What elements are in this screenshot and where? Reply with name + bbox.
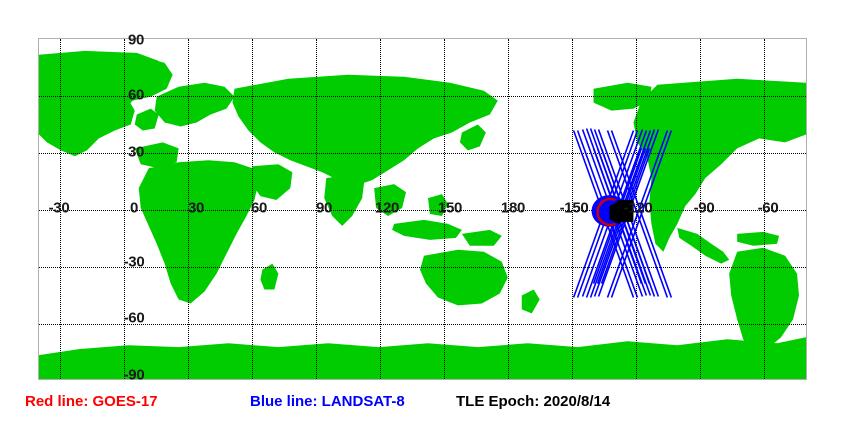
satellite-ground-track-map: 90 60 30 -30 -60 -90 -30 0 30 60 90 120 …: [0, 0, 850, 390]
antarctica-shape: [39, 337, 806, 379]
lat-tick-30: 30: [128, 145, 144, 160]
gridline-lat-30: [39, 153, 806, 154]
lon-tick-30: 30: [188, 201, 204, 216]
lon-tick-180: 180: [501, 201, 525, 216]
japan-shape: [460, 124, 486, 150]
lon-tick--120: -120: [624, 201, 653, 216]
lat-tick--90: -90: [124, 368, 145, 383]
lon-tick--150: -150: [560, 201, 589, 216]
british-isles-shape: [135, 109, 159, 131]
lat-tick--30: -30: [124, 255, 145, 270]
gridline-lon--120: [124, 39, 125, 379]
gridline-lat-0: [39, 210, 806, 211]
continents-group: [39, 51, 806, 379]
europe-shape: [155, 83, 235, 127]
world-landmass-layer: [39, 39, 806, 379]
gridline-lat--30: [39, 267, 806, 268]
lon-tick--60: -60: [758, 201, 779, 216]
lon-tick--30: -30: [49, 201, 70, 216]
arabia-shape: [250, 164, 292, 200]
australia-shape: [420, 250, 508, 306]
new-guinea-shape: [462, 230, 502, 246]
lat-tick-90: 90: [128, 33, 144, 48]
lat-tick--60: -60: [124, 311, 145, 326]
caribbean-shape: [737, 232, 779, 246]
lon-tick-90: 90: [316, 201, 332, 216]
lon-tick-150: 150: [438, 201, 462, 216]
gridline-lat-60: [39, 96, 806, 97]
lon-tick-120: 120: [375, 201, 399, 216]
north-america-shape: [39, 51, 159, 156]
lon-tick-60: 60: [251, 201, 267, 216]
central-america-shape: [677, 228, 729, 264]
gridline-lat--60: [39, 324, 806, 325]
legend-entry-landsat8: Blue line: LANDSAT-8: [250, 392, 405, 412]
legend-entry-tle-epoch: TLE Epoch: 2020/8/14: [456, 392, 610, 412]
map-plot-area: [38, 38, 807, 380]
lat-tick-60: 60: [128, 88, 144, 103]
lon-tick--90: -90: [694, 201, 715, 216]
lon-tick-0: 0: [130, 201, 138, 216]
africa-shape: [139, 160, 259, 303]
legend-bar: Red line: GOES-17 Blue line: LANDSAT-8 T…: [0, 392, 850, 425]
north-america-body-shape: [633, 79, 806, 252]
new-zealand-shape: [522, 290, 540, 314]
legend-entry-goes17: Red line: GOES-17: [25, 392, 158, 412]
